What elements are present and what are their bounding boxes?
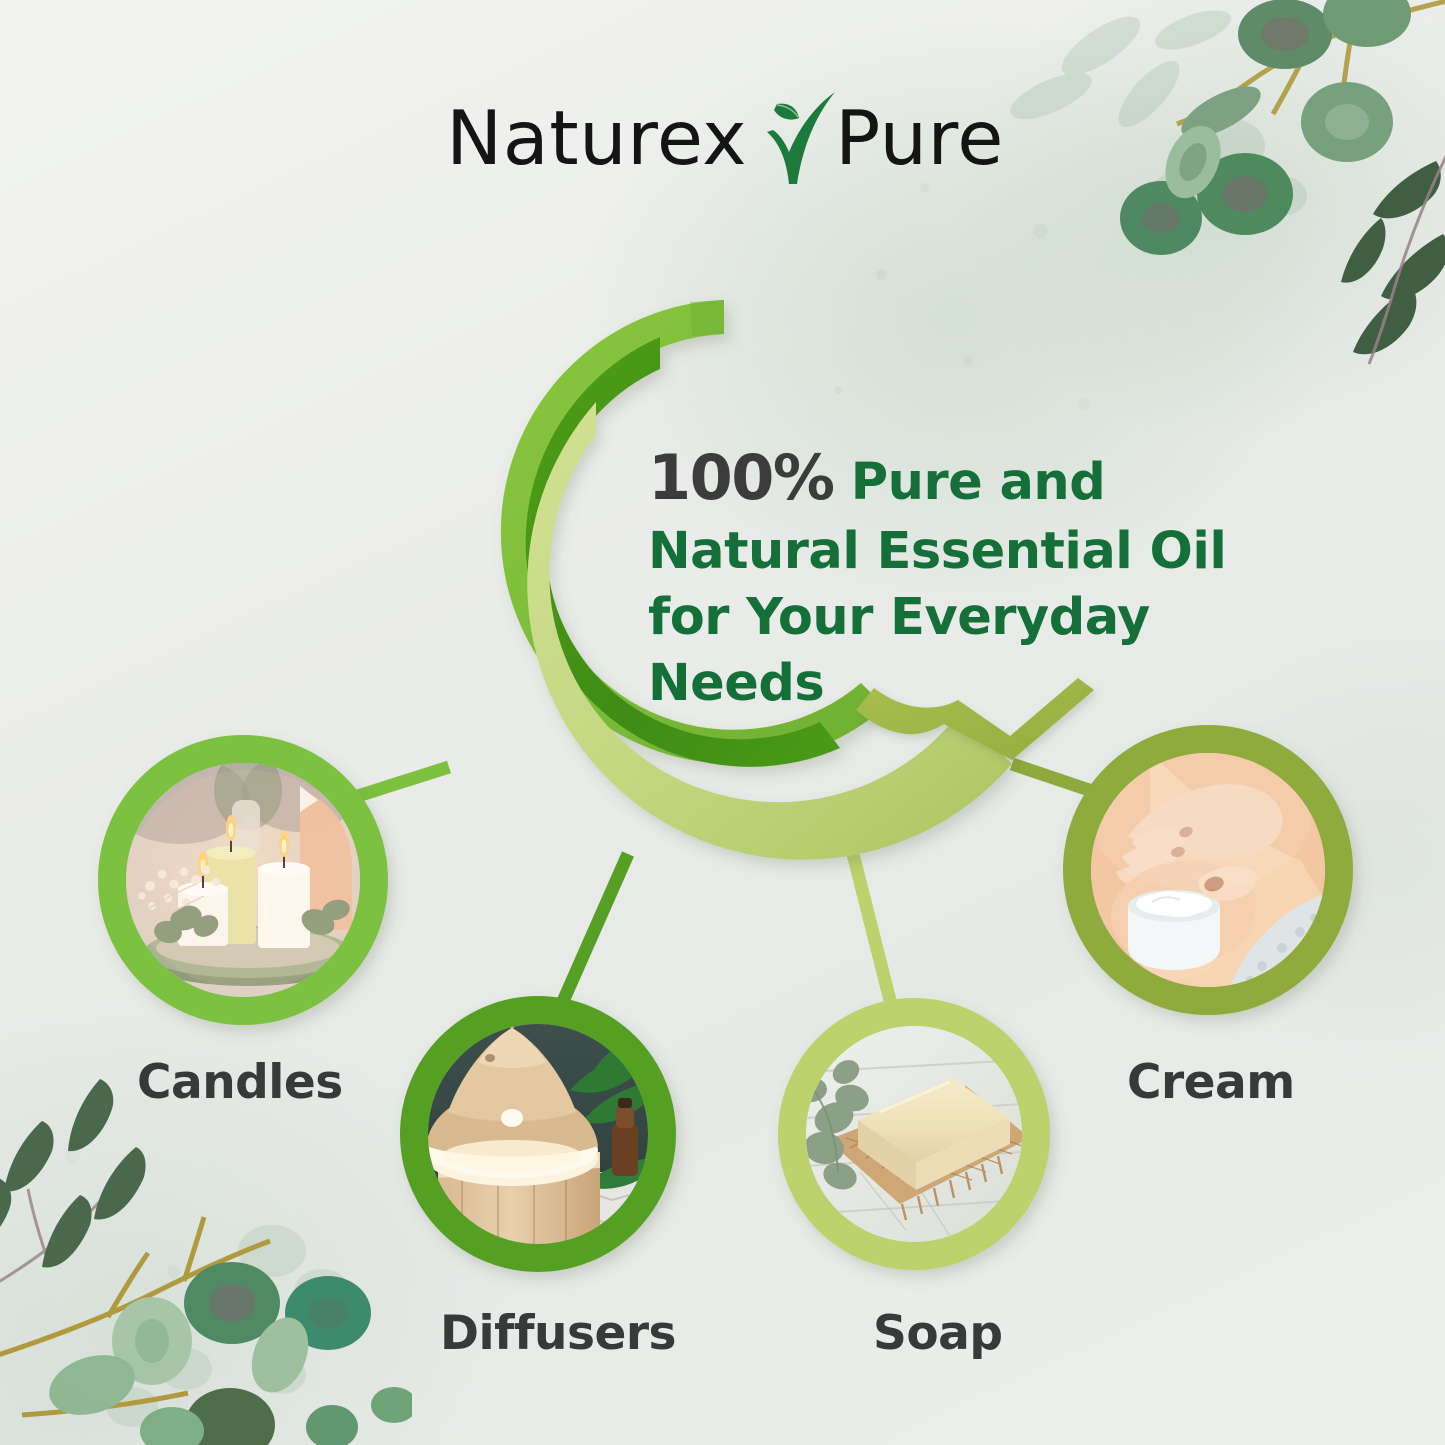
radial-category-diagram	[0, 0, 1445, 1445]
diffuser-photo	[426, 912, 654, 1244]
arc-inner	[527, 402, 1090, 860]
connector-diffusers	[553, 854, 628, 1024]
category-label-soap: Soap	[873, 1306, 1003, 1361]
category-circle-soap[interactable]	[792, 1012, 1036, 1256]
category-label-diffusers: Diffusers	[440, 1306, 676, 1361]
category-circle-diffusers[interactable]	[414, 912, 662, 1258]
poster-canvas: Naturex Pure 100% Pure and Natural Essen…	[0, 0, 1445, 1445]
category-circle-cream[interactable]	[1077, 739, 1339, 1001]
concentric-arc-graphic	[501, 300, 1090, 860]
category-circle-candles[interactable]	[110, 749, 374, 1011]
category-label-candles: Candles	[137, 1055, 343, 1110]
category-label-cream: Cream	[1127, 1055, 1295, 1110]
connector-soap	[851, 846, 896, 1024]
connector-candles	[345, 767, 449, 800]
arc-outer-cap-top	[690, 300, 724, 336]
